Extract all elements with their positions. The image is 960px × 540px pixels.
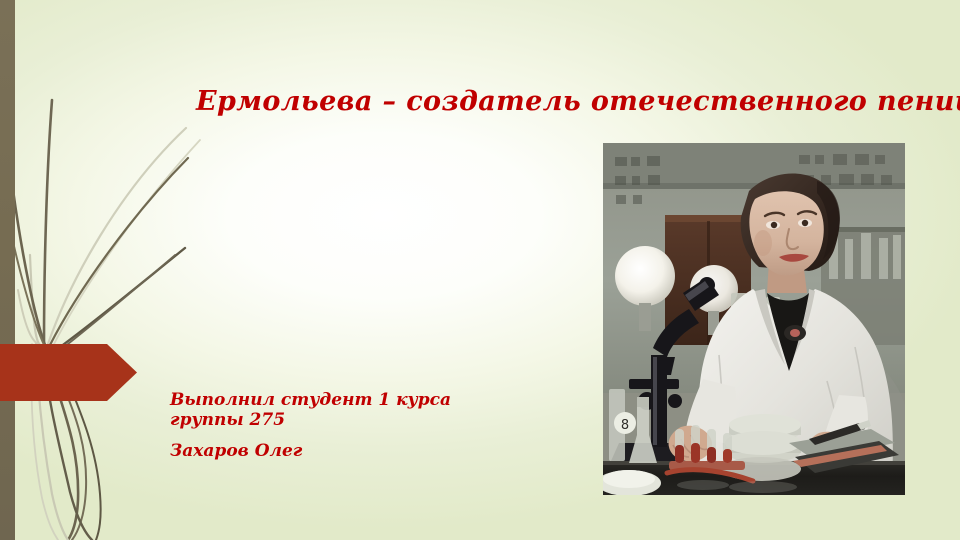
subtitle-line-3: Захаров Олег: [170, 442, 570, 462]
svg-text:8: 8: [621, 418, 629, 433]
left-edge-stripe: [0, 0, 15, 540]
slide-subtitle: Выполнил студент 1 курса группы 275 Заха…: [170, 391, 570, 462]
subtitle-line-1: Выполнил студент 1 курса: [170, 391, 570, 411]
arrow-banner: [0, 344, 137, 401]
ermolyeva-photo: 8: [603, 143, 905, 495]
slide-title: Ермольева – создатель отечественного пен…: [196, 86, 926, 117]
presentation-slide: 8 Ермольева – создатель отеч: [0, 0, 960, 540]
subtitle-line-2: группы 275: [170, 411, 570, 431]
